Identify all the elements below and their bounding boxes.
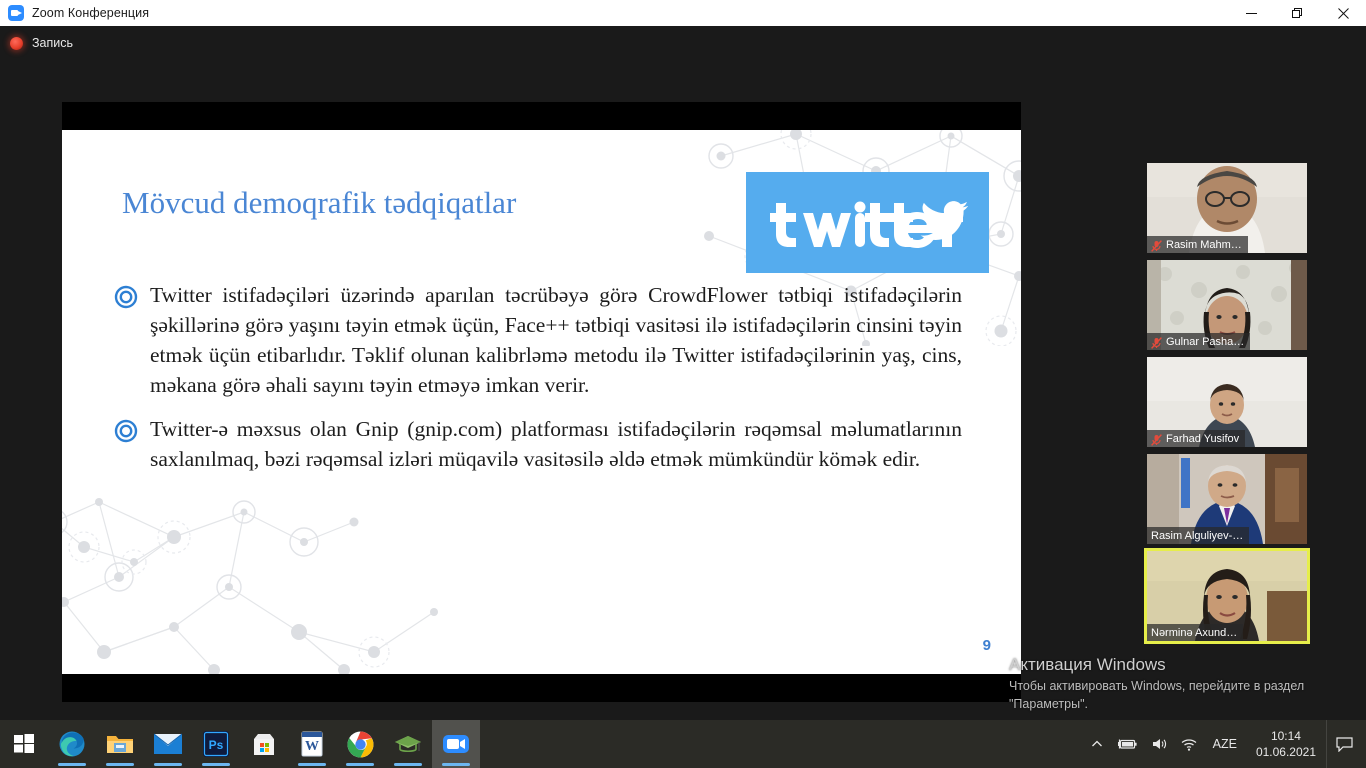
taskbar-app-edge[interactable] <box>48 720 96 768</box>
participant-tile[interactable]: Rasim Alguliyev-… <box>1147 454 1307 544</box>
participant-name-bar: Nərminə Axund… <box>1147 624 1243 641</box>
participant-name-bar: Rasim Alguliyev-… <box>1147 527 1249 544</box>
bullet-text: Twitter istifadəçiləri üzərində aparılan… <box>150 280 962 400</box>
restore-button[interactable] <box>1274 0 1320 26</box>
action-center-icon[interactable] <box>1326 720 1362 768</box>
taskbar-app-word[interactable]: W <box>288 720 336 768</box>
volume-icon[interactable] <box>1144 737 1174 751</box>
taskbar-app-file-explorer[interactable] <box>96 720 144 768</box>
participant-tile[interactable]: Gulnar Pasha… <box>1147 260 1307 350</box>
participant-filmstrip: Rasim Mahm… <box>1147 163 1309 648</box>
svg-text:Ps: Ps <box>209 738 224 752</box>
taskbar-app-education[interactable] <box>384 720 432 768</box>
clock-time: 10:14 <box>1256 728 1316 744</box>
participant-name-bar: Gulnar Pasha… <box>1147 333 1250 350</box>
language-indicator[interactable]: AZE <box>1204 737 1246 751</box>
bullet-item: Twitter-ə məxsus olan Gnip (gnip.com) pl… <box>114 414 969 474</box>
battery-charging-icon[interactable] <box>1110 738 1144 750</box>
taskbar-app-zoom[interactable] <box>432 720 480 768</box>
screen: Zoom Конференция Запись <box>0 0 1366 768</box>
microphone-muted-icon <box>1151 433 1162 445</box>
zoom-meeting-window: Запись <box>0 26 1366 720</box>
twitter-logo <box>746 172 989 273</box>
participant-name: Rasim Alguliyev-… <box>1151 530 1243 542</box>
microphone-muted-icon <box>1151 239 1162 251</box>
wifi-icon[interactable] <box>1174 738 1204 751</box>
participant-name: Farhad Yusifov <box>1166 433 1239 445</box>
network-decoration-bottom-left <box>62 492 444 674</box>
participant-name-bar: Farhad Yusifov <box>1147 430 1245 447</box>
participant-tile[interactable]: Rasim Mahm… <box>1147 163 1307 253</box>
windows-taskbar: Ps W <box>0 720 1366 768</box>
close-button[interactable] <box>1320 0 1366 26</box>
taskbar-app-mail[interactable] <box>144 720 192 768</box>
watermark-title: Активация Windows <box>1009 655 1349 675</box>
slide-body: Twitter istifadəçiləri üzərində aparılan… <box>114 280 969 489</box>
taskbar-app-chrome[interactable] <box>336 720 384 768</box>
slide-title: Mövcud demoqrafik tədqiqatlar <box>122 185 516 221</box>
record-dot-icon <box>10 37 23 50</box>
recording-indicator[interactable]: Запись <box>10 36 73 50</box>
participant-tile-active-speaker[interactable]: Nərminə Axund… <box>1147 551 1307 641</box>
clock-date: 01.06.2021 <box>1256 744 1316 760</box>
ring-bullet-icon <box>114 285 140 311</box>
watermark-subtitle: Чтобы активировать Windows, перейдите в … <box>1009 678 1349 714</box>
show-hidden-icons-chevron-up-icon[interactable] <box>1084 738 1110 750</box>
participant-name: Gulnar Pasha… <box>1166 336 1244 348</box>
windows-activation-watermark: Активация Windows Чтобы активировать Win… <box>1009 655 1349 714</box>
taskbar-app-microsoft-store[interactable] <box>240 720 288 768</box>
svg-text:W: W <box>305 739 319 754</box>
window-title-bar: Zoom Конференция <box>0 0 1366 26</box>
recording-label: Запись <box>32 36 73 50</box>
window-title: Zoom Конференция <box>32 6 149 20</box>
microphone-muted-icon <box>1151 336 1162 348</box>
start-button[interactable] <box>0 720 48 768</box>
zoom-camera-icon <box>8 5 24 21</box>
clock[interactable]: 10:14 01.06.2021 <box>1246 728 1326 760</box>
participant-name-bar: Rasim Mahm… <box>1147 236 1248 253</box>
ring-bullet-icon <box>114 419 140 445</box>
system-tray: AZE 10:14 01.06.2021 <box>1084 720 1366 768</box>
participant-name: Nərminə Axund… <box>1151 627 1237 639</box>
participant-name: Rasim Mahm… <box>1166 239 1242 251</box>
shared-screen-stage[interactable]: Mövcud demoqrafik tədqiqatlar Twitter is… <box>62 102 1021 702</box>
presentation-slide: Mövcud demoqrafik tədqiqatlar Twitter is… <box>62 130 1021 674</box>
window-controls <box>1228 0 1366 26</box>
bullet-item: Twitter istifadəçiləri üzərində aparılan… <box>114 280 969 400</box>
taskbar-app-photoshop[interactable]: Ps <box>192 720 240 768</box>
participant-tile[interactable]: Farhad Yusifov <box>1147 357 1307 447</box>
bullet-text: Twitter-ə məxsus olan Gnip (gnip.com) pl… <box>150 414 962 474</box>
slide-page-number: 9 <box>983 637 991 654</box>
minimize-button[interactable] <box>1228 0 1274 26</box>
